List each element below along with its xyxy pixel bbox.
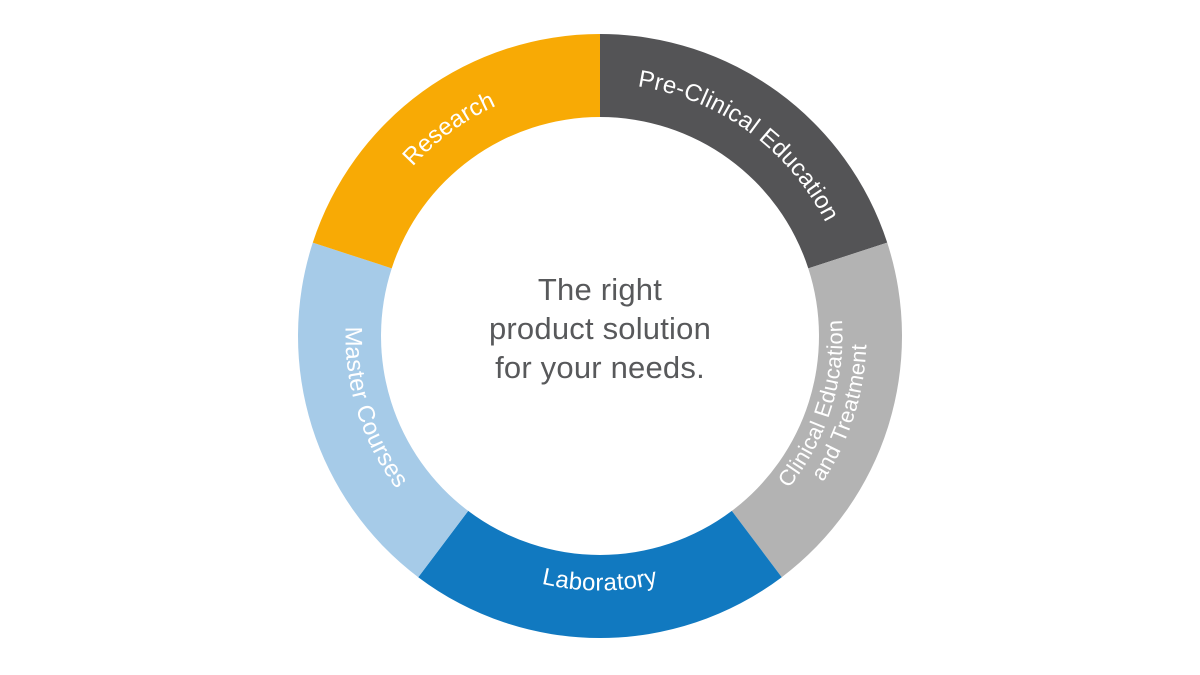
donut-segment-research[interactable] [313, 34, 600, 268]
center-caption-line-1: The right [400, 270, 800, 309]
center-caption-line-3: for your needs. [400, 348, 800, 387]
diagram-canvas: Pre-Clinical EducationClinical Education… [0, 0, 1200, 675]
center-caption: The right product solution for your need… [400, 270, 800, 387]
center-caption-line-2: product solution [400, 309, 800, 348]
